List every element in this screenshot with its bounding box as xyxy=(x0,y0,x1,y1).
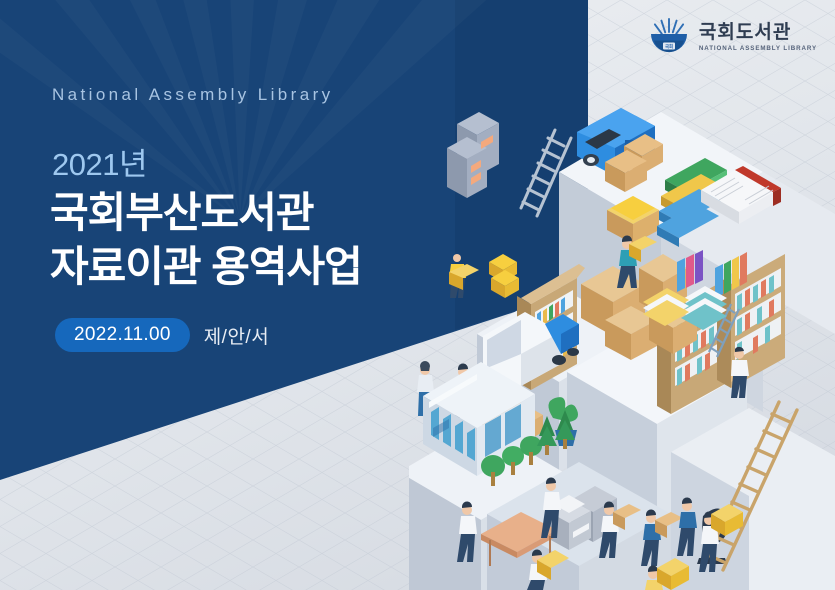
logo-english-name: NATIONAL ASSEMBLY LIBRARY xyxy=(699,46,817,52)
date-badge: 2022.11.00 xyxy=(55,318,190,352)
worker-yellow-boxes-icon xyxy=(449,254,519,298)
open-book-emblem-icon: 국회 xyxy=(647,16,691,60)
server-rack-icon xyxy=(447,112,499,198)
document-meta: 2022.11.00 제/안/서 xyxy=(55,318,269,352)
page-title: 국회부산도서관 자료이관 용역사업 xyxy=(50,186,362,294)
eyebrow-organization: National Assembly Library xyxy=(52,85,334,105)
year-label: 2021년 xyxy=(52,139,147,184)
logo-korean-name: 국회도서관 xyxy=(699,23,817,42)
isometric-library-relocation-illustration xyxy=(409,72,835,590)
logo: 국회 국회도서관 NATIONAL ASSEMBLY LIBRARY xyxy=(647,16,817,60)
document-type-label: 제/안/서 xyxy=(204,322,270,349)
cover-page: 국회 국회도서관 NATIONAL ASSEMBLY LIBRARY Natio… xyxy=(0,0,835,590)
logo-text: 국회도서관 NATIONAL ASSEMBLY LIBRARY xyxy=(699,23,817,52)
svg-text:국회: 국회 xyxy=(665,43,673,50)
